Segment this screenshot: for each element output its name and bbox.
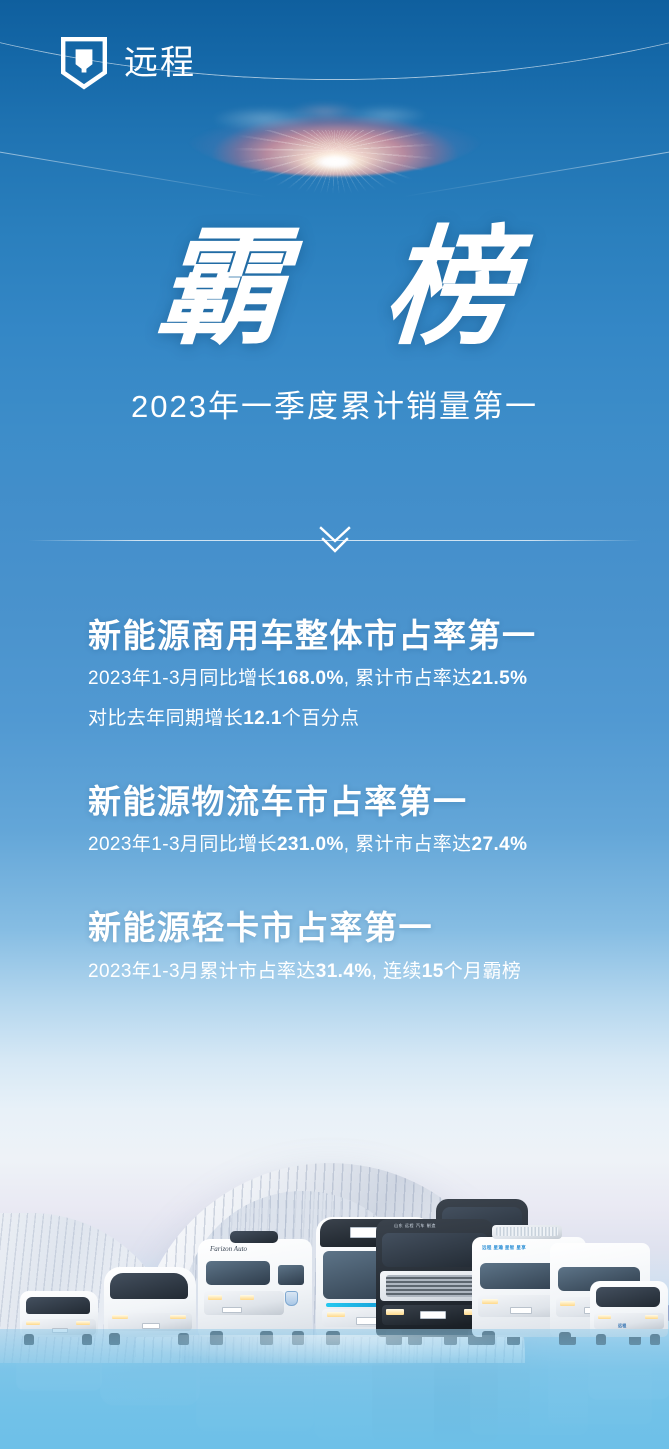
stat-value: 12.1 [243,708,282,729]
stats-list: 新能源商用车整体市占率第一2023年1-3月同比增长168.0%, 累计市占率达… [88,615,629,988]
stat-text: , 连续 [372,961,422,982]
floor-glow [54,1335,616,1409]
stat-block: 新能源物流车市占率第一2023年1-3月同比增长231.0%, 累计市占率达27… [88,781,629,862]
stat-value: 31.4% [316,961,372,982]
stat-text: 个月霸榜 [444,961,522,982]
stat-text: 2023年1-3月同比增长 [88,668,277,689]
light-streak-right [403,104,669,197]
vehicle-motorhome: Farizon Auto [196,1229,314,1345]
stat-value: 21.5% [472,668,528,689]
page-title: 霸 榜 [0,225,669,353]
stat-value: 231.0% [277,834,344,855]
yuancheng-shield-logo-icon [60,36,108,90]
stat-detail-line: 2023年1-3月同比增长168.0%, 累计市占率达21.5% [88,662,629,695]
rv-brand-script: Farizon Auto [210,1245,247,1253]
brand-logo[interactable]: 远程 [60,36,196,90]
stat-block: 新能源轻卡市占率第一2023年1-3月累计市占率达31.4%, 连续15个月霸榜 [88,907,629,988]
sun-rays [225,130,445,208]
bottom-scene: Farizon Auto [0,979,669,1449]
stat-text: 2023年1-3月同比增长 [88,834,277,855]
stat-value: 27.4% [472,834,528,855]
stat-text: , 累计市占率达 [344,834,472,855]
stat-text: 对比去年同期增长 [88,708,243,729]
promo-poster: 远程 霸 榜 2023年一季度累计销量第一 新能源商用车整体市占率第一2023年… [0,0,669,1449]
stat-heading: 新能源商用车整体市占率第一 [88,615,629,656]
stat-value: 168.0% [277,668,344,689]
stat-detail-line: 2023年1-3月累计市占率达31.4%, 连续15个月霸榜 [88,955,629,988]
light-streak-left [0,104,266,197]
stat-heading: 新能源物流车市占率第一 [88,781,629,822]
stat-text: , 累计市占率达 [344,668,472,689]
reflective-floor-icon [0,1329,669,1449]
stat-value: 15 [422,961,444,982]
hero-section: 霸 榜 2023年一季度累计销量第一 [0,225,669,426]
stat-detail-line: 对比去年同期增长12.1个百分点 [88,702,629,735]
brand-name: 远程 [124,46,196,80]
stat-text: 个百分点 [282,708,360,729]
section-divider [0,520,669,570]
rv-emblem [285,1291,298,1306]
vehicle-lineup: Farizon Auto [0,1195,669,1345]
hero-subtitle: 2023年一季度累计销量第一 [0,381,669,426]
stat-heading: 新能源轻卡市占率第一 [88,907,629,948]
stat-text: 2023年1-3月累计市占率达 [88,961,316,982]
double-chevron-down-icon [315,520,355,566]
sun-core [255,138,415,186]
sunrise-clouds [185,92,485,176]
sunrise-burst-icon [0,78,669,208]
refrigerated-truck-text: 远程 星瀚 星智 星享 [482,1245,526,1251]
stat-block: 新能源商用车整体市占率第一2023年1-3月同比增长168.0%, 累计市占率达… [88,615,629,735]
tractor-roof-text: 山东 远程 汽车 制造 [394,1223,436,1229]
stat-detail-line: 2023年1-3月同比增长231.0%, 累计市占率达27.4% [88,828,629,861]
